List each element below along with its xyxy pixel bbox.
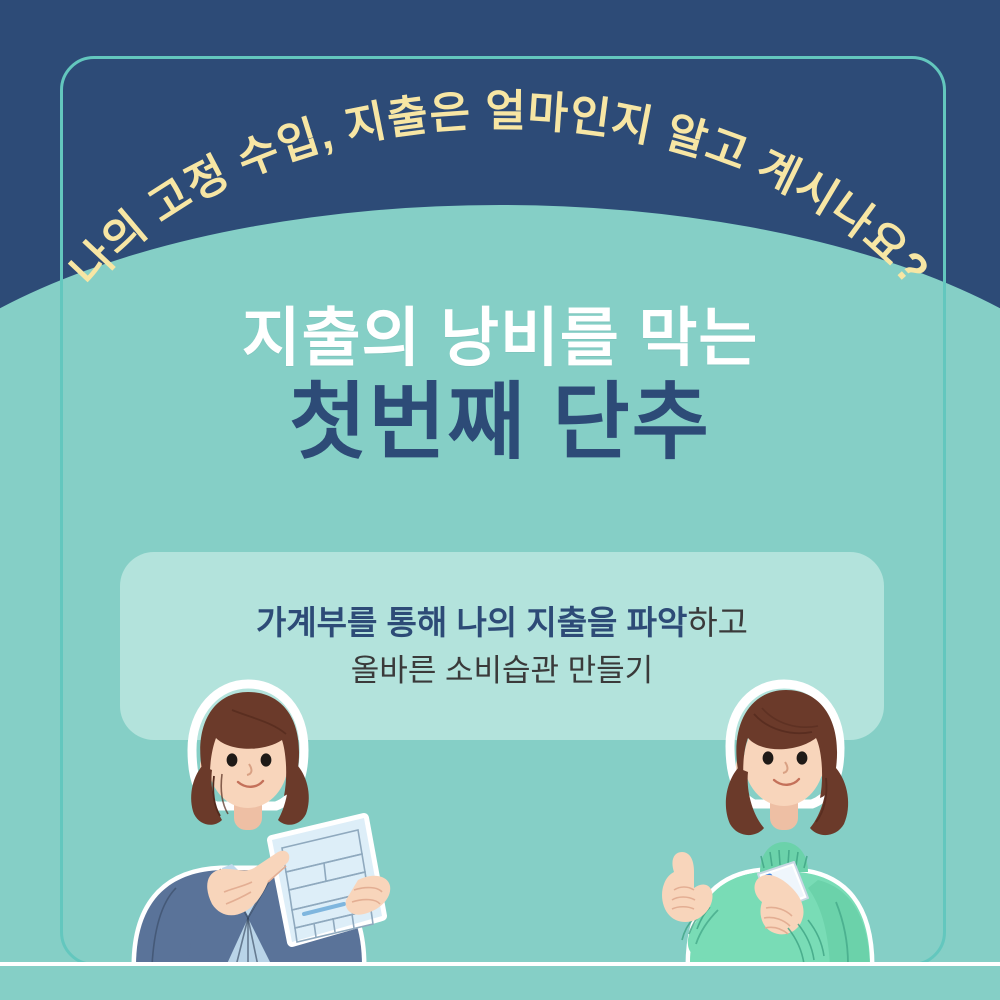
baseline-rule <box>0 962 1000 966</box>
eyebrow-text: 나의 고정 수입, 지출은 얼마인지 알고 계시나요? <box>61 87 938 296</box>
illustration-woman-with-document <box>96 666 396 966</box>
bottom-teal-band <box>0 966 1000 1000</box>
subtitle-line-1: 가계부를 통해 나의 지출을 파악하고 <box>256 598 748 648</box>
subtitle-line-2: 올바른 소비습관 만들기 <box>351 648 653 695</box>
title-line-2: 첫번째 단추 <box>0 378 1000 466</box>
title-block: 지출의 낭비를 막는 첫번째 단추 <box>0 305 1000 466</box>
promo-card: 나의 고정 수입, 지출은 얼마인지 알고 계시나요? 지출의 낭비를 막는 첫… <box>0 0 1000 1000</box>
subtitle-line-1-normal: 하고 <box>687 604 748 641</box>
title-line-1: 지출의 낭비를 막는 <box>0 305 1000 372</box>
subtitle-line-1-strong: 가계부를 통해 나의 지출을 파악 <box>256 604 687 641</box>
eyebrow-headline: 나의 고정 수입, 지출은 얼마인지 알고 계시나요? <box>0 90 1000 310</box>
illustration-woman-with-phone <box>612 666 912 966</box>
